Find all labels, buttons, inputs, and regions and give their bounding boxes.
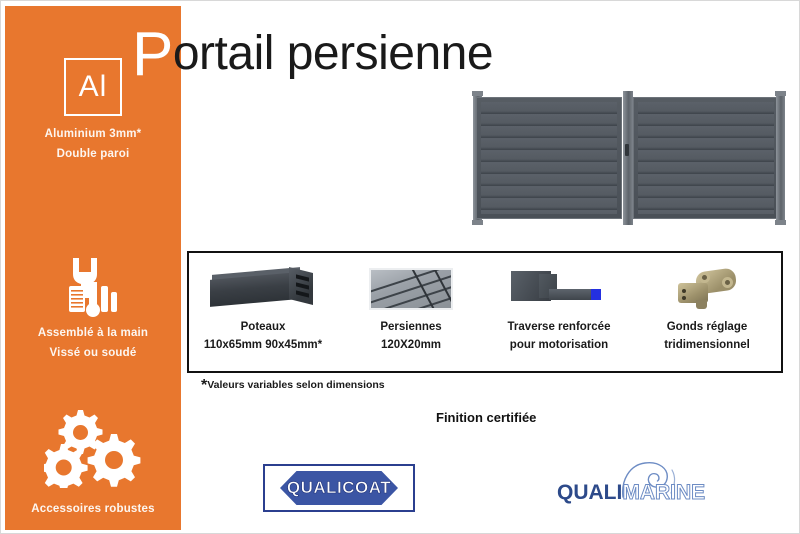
feature-assembly: Assemblé à la main Vissé ou soudé bbox=[5, 256, 181, 363]
gate-handle bbox=[625, 144, 629, 156]
feature-accessories-line-1: Accessoires robustes bbox=[5, 499, 181, 519]
spec-caption-traverse-line-2: pour motorisation bbox=[510, 336, 608, 354]
qualicoat-logo: QUALICOAT bbox=[263, 464, 415, 512]
aluminium-symbol-label: Al bbox=[79, 72, 108, 102]
spec-item-gonds: Gonds réglage tridimensionnel bbox=[633, 253, 781, 371]
gond-hinge-icon bbox=[633, 260, 781, 318]
spec-caption-gonds-line-2: tridimensionnel bbox=[664, 336, 750, 354]
feature-assembly-line-1: Assemblé à la main bbox=[5, 323, 181, 343]
page-title: Portail persienne bbox=[132, 28, 493, 81]
product-sheet-page: Al Aluminium 3mm* Double paroi bbox=[0, 0, 800, 534]
poteau-profile-icon bbox=[189, 260, 337, 318]
aluminium-square-icon: Al bbox=[64, 58, 122, 116]
gate-post-cap-left-bottom bbox=[472, 220, 483, 225]
gate-post-right bbox=[776, 91, 785, 225]
page-title-rest: ortail persienne bbox=[173, 27, 493, 80]
gate-post-cap-right-bottom bbox=[775, 220, 786, 225]
gate-slats-right bbox=[638, 102, 774, 214]
spec-item-poteaux: Poteaux 110x65mm 90x45mm* bbox=[189, 253, 337, 371]
gate-post-middle bbox=[623, 91, 633, 225]
spec-caption-poteaux-line-1: Poteaux bbox=[241, 318, 286, 336]
feature-aluminium-line-1: Aluminium 3mm* bbox=[5, 124, 181, 144]
feature-assembly-line-2: Vissé ou soudé bbox=[5, 343, 181, 363]
footnote-text: Valeurs variables selon dimensions bbox=[207, 379, 384, 391]
gate-leaf-left bbox=[476, 97, 622, 219]
wrench-hand-icon bbox=[5, 256, 181, 323]
spec-caption-poteaux-line-2: 110x65mm 90x45mm* bbox=[204, 336, 322, 354]
gate-leaf-right bbox=[633, 97, 779, 219]
page-title-initial: P bbox=[132, 20, 173, 89]
qualicoat-logo-text: QUALICOAT bbox=[265, 478, 413, 498]
qualimarine-text-bold: QUALI bbox=[557, 481, 622, 504]
spec-item-persiennes: Persiennes 120X20mm bbox=[337, 253, 485, 371]
gate-post-cap-left-top bbox=[472, 91, 483, 96]
portail-persienne-photo bbox=[473, 91, 785, 229]
feature-accessories: Accessoires robustes bbox=[5, 406, 181, 519]
feature-aluminium-line-2: Double paroi bbox=[5, 144, 181, 164]
spec-caption-persiennes-line-2: 120X20mm bbox=[381, 336, 441, 354]
gate-post-cap-right-top bbox=[775, 91, 786, 96]
qualimarine-logo-text: QUALIMARINE bbox=[557, 481, 719, 505]
qualimarine-logo: QUALIMARINE bbox=[557, 463, 719, 515]
traverse-motor-icon bbox=[485, 260, 633, 318]
spec-caption-persiennes-line-1: Persiennes bbox=[380, 318, 441, 336]
certification-title: Finition certifiée bbox=[436, 410, 536, 425]
spec-caption-traverse-line-1: Traverse renforcée bbox=[508, 318, 611, 336]
spec-item-traverse: Traverse renforcée pour motorisation bbox=[485, 253, 633, 371]
gate-slats-left bbox=[481, 102, 617, 214]
persienne-slats-photo bbox=[337, 260, 485, 318]
qualimarine-text-light: MARINE bbox=[622, 481, 705, 504]
spec-caption-gonds-line-1: Gonds réglage bbox=[667, 318, 748, 336]
gears-icon bbox=[5, 406, 181, 493]
component-spec-box: Poteaux 110x65mm 90x45mm* Persiennes 120… bbox=[187, 251, 783, 373]
footnote: *Valeurs variables selon dimensions bbox=[201, 379, 385, 391]
